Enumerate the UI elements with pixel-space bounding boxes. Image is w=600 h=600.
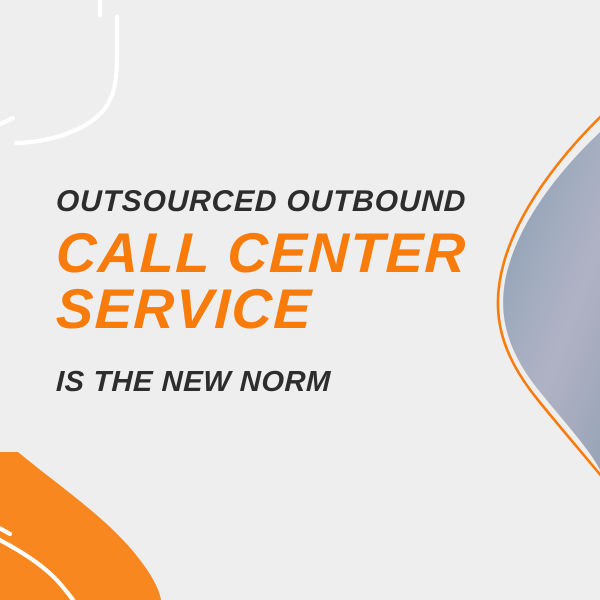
headline-main-line-2: SERVICE [55, 282, 517, 337]
headline-main-line-1: CALL CENTER [55, 226, 517, 281]
headline-eyebrow: OUTSOURCED OUTBOUND [55, 186, 516, 218]
poster-canvas: OUTSOURCED OUTBOUND CALL CENTER SERVICE … [0, 0, 600, 600]
headline-block: OUTSOURCED OUTBOUND CALL CENTER SERVICE … [56, 186, 516, 398]
headline-kicker: IS THE NEW NORM [55, 367, 516, 397]
